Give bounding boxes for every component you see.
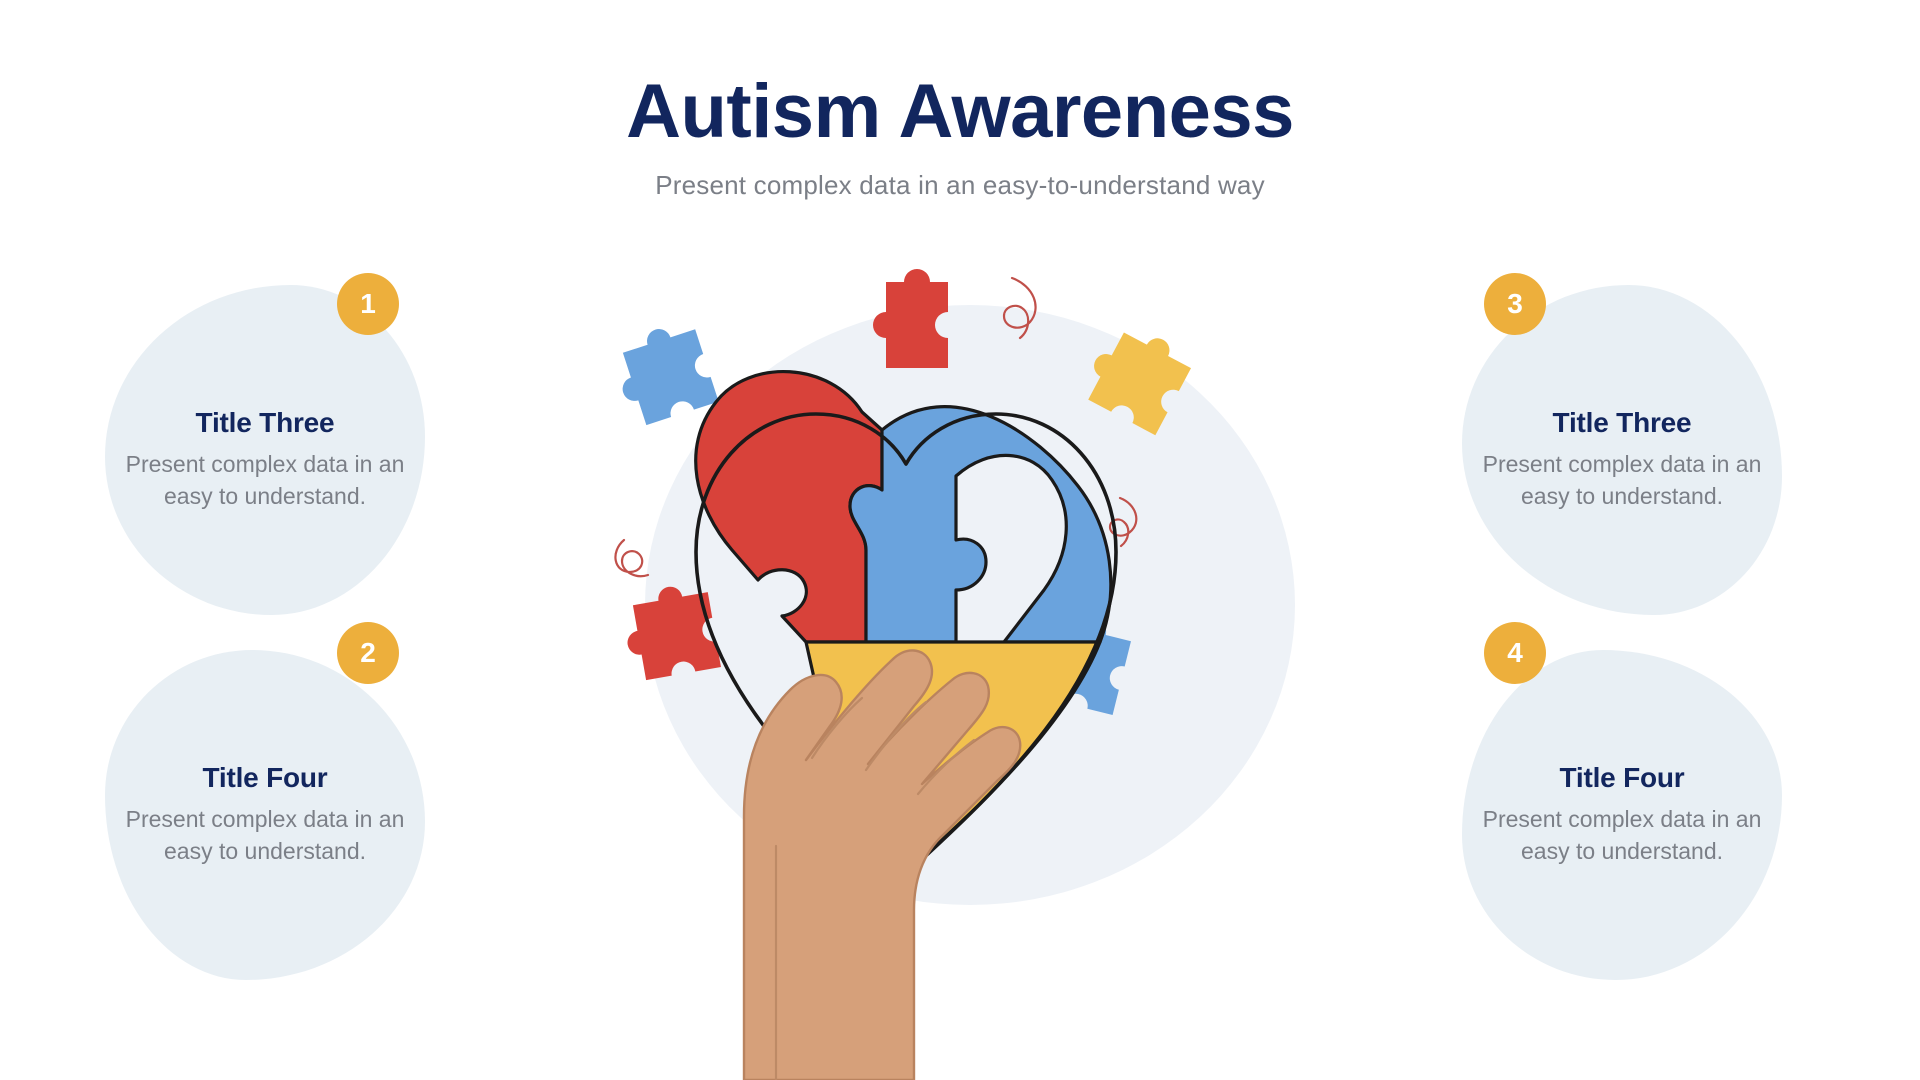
card-4-number: 4 xyxy=(1507,637,1523,669)
hand-holding-puzzle-heart-illustration xyxy=(600,250,1340,1080)
card-4-title: Title Four xyxy=(1480,762,1764,794)
slide-canvas: Autism Awareness Present complex data in… xyxy=(0,0,1920,1080)
card-4-text: Title Four Present complex data in an ea… xyxy=(1462,762,1782,867)
card-4-body: Present complex data in an easy to under… xyxy=(1480,804,1764,867)
card-2-body: Present complex data in an easy to under… xyxy=(123,804,407,867)
card-2-number-badge: 2 xyxy=(337,622,399,684)
card-1-text: Title Three Present complex data in an e… xyxy=(105,407,425,512)
card-1-number: 1 xyxy=(360,288,376,320)
info-card-1[interactable]: 1 Title Three Present complex data in an… xyxy=(105,285,425,615)
card-3-body: Present complex data in an easy to under… xyxy=(1480,449,1764,512)
card-1-title: Title Three xyxy=(123,407,407,439)
page-subtitle: Present complex data in an easy-to-under… xyxy=(0,170,1920,201)
card-1-number-badge: 1 xyxy=(337,273,399,335)
card-3-number: 3 xyxy=(1507,288,1523,320)
card-1-body: Present complex data in an easy to under… xyxy=(123,449,407,512)
puzzle-piece-blue-left xyxy=(608,318,719,429)
card-2-text: Title Four Present complex data in an ea… xyxy=(105,762,425,867)
info-card-4[interactable]: 4 Title Four Present complex data in an … xyxy=(1462,650,1782,980)
card-4-number-badge: 4 xyxy=(1484,622,1546,684)
card-2-number: 2 xyxy=(360,637,376,669)
page-title: Autism Awareness xyxy=(0,72,1920,152)
card-3-title: Title Three xyxy=(1480,407,1764,439)
card-3-text: Title Three Present complex data in an e… xyxy=(1462,407,1782,512)
info-card-2[interactable]: 2 Title Four Present complex data in an … xyxy=(105,650,425,980)
slide-header: Autism Awareness Present complex data in… xyxy=(0,72,1920,201)
card-3-number-badge: 3 xyxy=(1484,273,1546,335)
doodle-swirl-left xyxy=(615,540,648,576)
card-2-title: Title Four xyxy=(123,762,407,794)
info-card-3[interactable]: 3 Title Three Present complex data in an… xyxy=(1462,285,1782,615)
